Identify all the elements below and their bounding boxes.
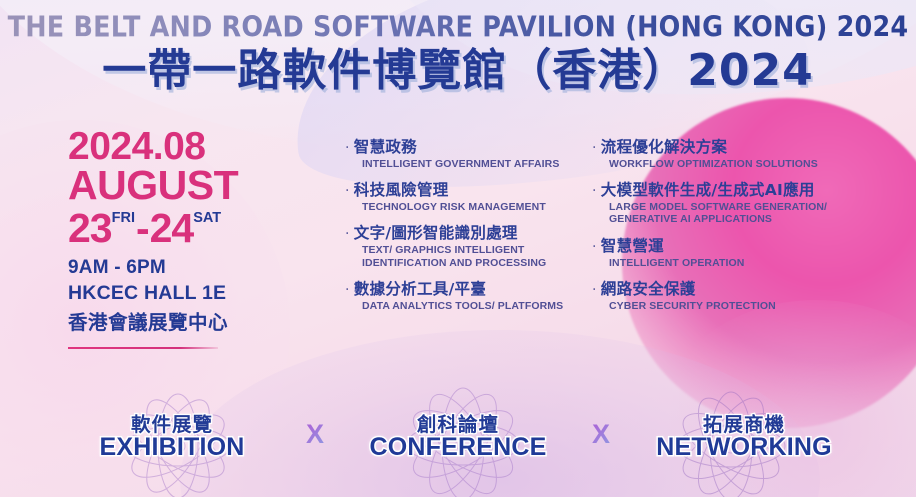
bullet-icon: · bbox=[592, 183, 597, 199]
topic-chinese-text: 網路安全保護 bbox=[601, 280, 696, 298]
bullet-icon: · bbox=[592, 282, 597, 298]
topic-chinese-text: 智慧政務 bbox=[354, 138, 417, 156]
event-details-block: 2024.08 AUGUST 23 FRI - 24 SAT 9AM - 6PM… bbox=[68, 128, 338, 349]
activity-conference: 創科論壇 CONFERENCE bbox=[345, 408, 571, 461]
topic-chinese-text: 流程優化解決方案 bbox=[601, 138, 727, 156]
day-start: 23 bbox=[68, 208, 112, 249]
activity-chinese: 拓展商機 bbox=[631, 414, 857, 435]
activity-trio: 軟件展覽 EXHIBITION X 創科論壇 CONFERENCE X 拓展商機… bbox=[0, 379, 916, 489]
topic-item: ·智慧營運 INTELLIGENT OPERATION bbox=[592, 237, 882, 269]
activity-english: CONFERENCE bbox=[345, 434, 571, 460]
bullet-icon: · bbox=[345, 282, 350, 298]
topic-chinese-text: 智慧營運 bbox=[601, 237, 664, 255]
day-end: 24 bbox=[150, 208, 194, 249]
activity-chinese: 軟件展覽 bbox=[59, 414, 285, 435]
day-start-weekday: FRI bbox=[112, 211, 135, 226]
activity-networking: 拓展商機 NETWORKING bbox=[631, 408, 857, 461]
trio-separator-2: X bbox=[571, 421, 631, 448]
topic-english: LARGE MODEL SOFTWARE GENERATION/ GENERAT… bbox=[609, 201, 882, 226]
venue-english: HKCEC HALL 1E bbox=[68, 282, 338, 305]
topic-item: ·網路安全保護 CYBER SECURITY PROTECTION bbox=[592, 280, 882, 312]
topic-english: DATA ANALYTICS TOOLS/ PLATFORMS bbox=[362, 300, 585, 312]
event-time: 9AM - 6PM bbox=[68, 257, 338, 279]
topic-chinese-text: 文字/圖形智能識別處理 bbox=[354, 224, 518, 242]
bullet-icon: · bbox=[592, 239, 597, 255]
day-end-weekday: SAT bbox=[193, 211, 221, 226]
activity-english: EXHIBITION bbox=[59, 434, 285, 460]
bullet-icon: · bbox=[345, 226, 350, 242]
topic-english: INTELLIGENT OPERATION bbox=[609, 257, 882, 269]
topic-item: ·文字/圖形智能識別處理 TEXT/ GRAPHICS INTELLIGENT … bbox=[345, 224, 585, 269]
topic-english: CYBER SECURITY PROTECTION bbox=[609, 300, 882, 312]
banner-title-block: THE BELT AND ROAD SOFTWARE PAVILION (HON… bbox=[0, 14, 916, 93]
topic-chinese-text: 科技風險管理 bbox=[354, 181, 449, 199]
topic-english: TEXT/ GRAPHICS INTELLIGENT IDENTIFICATIO… bbox=[362, 244, 585, 269]
topic-list-right: ·流程優化解決方案 WORKFLOW OPTIMIZATION SOLUTION… bbox=[592, 138, 882, 312]
day-range-dash: - bbox=[136, 208, 150, 249]
topic-english: WORKFLOW OPTIMIZATION SOLUTIONS bbox=[609, 158, 882, 170]
topic-chinese-text: 數據分析工具/平臺 bbox=[354, 280, 486, 298]
title-english: THE BELT AND ROAD SOFTWARE PAVILION (HON… bbox=[0, 14, 916, 43]
topic-item: ·科技風險管理 TECHNOLOGY RISK MANAGEMENT bbox=[345, 181, 585, 213]
topic-item: ·流程優化解決方案 WORKFLOW OPTIMIZATION SOLUTION… bbox=[592, 138, 882, 170]
topic-list-left: ·智慧政務 INTELLIGENT GOVERNMENT AFFAIRS ·科技… bbox=[345, 138, 585, 312]
trio-separator-1: X bbox=[285, 421, 345, 448]
topic-item: ·大模型軟件生成/生成式AI應用 LARGE MODEL SOFTWARE GE… bbox=[592, 181, 882, 226]
topic-chinese: ·文字/圖形智能識別處理 bbox=[345, 224, 585, 243]
topic-item: ·數據分析工具/平臺 DATA ANALYTICS TOOLS/ PLATFOR… bbox=[345, 280, 585, 312]
topic-english: TECHNOLOGY RISK MANAGEMENT bbox=[362, 201, 585, 213]
event-year-month: 2024.08 bbox=[68, 128, 338, 165]
activity-english: NETWORKING bbox=[631, 434, 857, 460]
topic-chinese: ·科技風險管理 bbox=[345, 181, 585, 200]
topic-chinese: ·智慧營運 bbox=[592, 237, 882, 256]
event-month-name: AUGUST bbox=[68, 165, 338, 207]
bullet-icon: · bbox=[345, 140, 350, 156]
topic-item: ·智慧政務 INTELLIGENT GOVERNMENT AFFAIRS bbox=[345, 138, 585, 170]
bullet-icon: · bbox=[345, 183, 350, 199]
activity-exhibition: 軟件展覽 EXHIBITION bbox=[59, 408, 285, 461]
event-day-range: 23 FRI - 24 SAT bbox=[68, 208, 338, 249]
venue-chinese: 香港會議展覽中心 bbox=[68, 306, 338, 335]
topic-chinese: ·大模型軟件生成/生成式AI應用 bbox=[592, 181, 882, 200]
topic-chinese: ·網路安全保護 bbox=[592, 280, 882, 299]
topic-chinese-text: 大模型軟件生成/生成式AI應用 bbox=[601, 181, 815, 199]
event-banner: THE BELT AND ROAD SOFTWARE PAVILION (HON… bbox=[0, 0, 916, 497]
topic-chinese: ·智慧政務 bbox=[345, 138, 585, 157]
activity-chinese: 創科論壇 bbox=[345, 414, 571, 435]
bullet-icon: · bbox=[592, 140, 597, 156]
topic-chinese: ·數據分析工具/平臺 bbox=[345, 280, 585, 299]
topic-chinese: ·流程優化解決方案 bbox=[592, 138, 882, 157]
topic-english: INTELLIGENT GOVERNMENT AFFAIRS bbox=[362, 158, 585, 170]
section-divider bbox=[68, 347, 218, 349]
title-chinese: 一帶一路軟件博覽館（香港）2024 bbox=[0, 49, 916, 93]
